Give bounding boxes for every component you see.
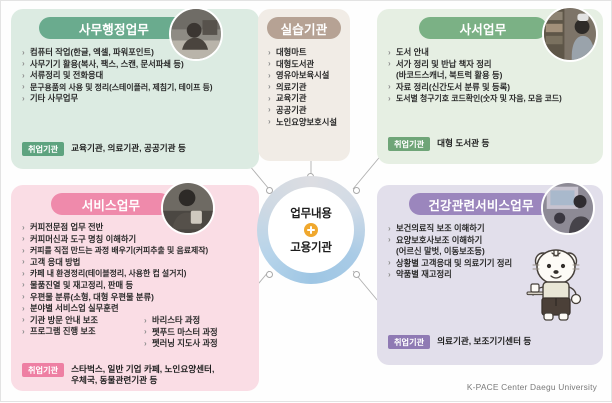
list-item: 도서별 청구기호 코드확인(숫자 및 자음, 모음 코드) (388, 93, 602, 105)
list-item: 기타 사무업무 (22, 93, 258, 105)
list-item: 영유아보육시설 (268, 70, 350, 82)
hub-bottom-label: 고용기관 (290, 239, 332, 255)
list-item: 카페 내 환경정리(테이블정리, 사용한 컵 설거지) (22, 268, 258, 280)
list-item: 펫러닝 지도사 과정 (144, 338, 256, 350)
list-item: 서류정리 및 전화응대 (22, 70, 258, 82)
hub-inner: 업무내용 고용기관 (268, 187, 354, 273)
health-training-photo (543, 183, 593, 233)
list-item: 펫푸드 마스터 과정 (144, 327, 256, 339)
barista-photo (163, 183, 213, 233)
employer-value: 대형 도서관 등 (437, 137, 489, 149)
card-service-employer: 취업기관 스타벅스, 일반 기업 카페, 노인요양센터, 우체국, 동물관련기관… (22, 363, 214, 386)
card-practicum-title: 실습기관 (267, 17, 341, 39)
office-worker-photo (171, 9, 221, 59)
tiger-mascot-with-tray (525, 241, 587, 323)
list-item: 대형도서관 (268, 59, 350, 71)
list-item: (바코드스캐너, 북트럭 활용 등) (388, 70, 602, 82)
list-item: 커피를 직접 만드는 과정 배우기(커피추출 및 음료제작) (22, 245, 258, 257)
card-office-photo (169, 7, 223, 61)
list-item: 대형마트 (268, 47, 350, 59)
card-library-photo (542, 6, 598, 62)
card-practicum-bullets: 대형마트 대형도서관 영유아보육시설 의료기관 교육기관 공공기관 노인요양보호… (268, 47, 350, 128)
center-hub: 업무내용 고용기관 (257, 176, 365, 284)
list-item: 의료기관 (268, 82, 350, 94)
employer-badge: 취업기관 (22, 142, 64, 156)
card-health-photo (541, 181, 595, 235)
employer-badge: 취업기관 (388, 137, 430, 151)
list-item: 물품진열 및 재고정리, 판매 등 (22, 280, 258, 292)
employer-value: 의료기관, 보조기기센터 등 (437, 335, 531, 347)
list-item: 고객 응대 방법 (22, 257, 258, 269)
plus-circle-icon (304, 223, 318, 237)
infographic-canvas: 사무행정업무 컴퓨터 작업(한글, 엑셀, 파워포인트) 사무기기 활용(복사,… (0, 0, 612, 402)
library-shelving-photo (544, 8, 596, 60)
employer-value-line2: 우체국, 동물관련기관 등 (71, 375, 214, 386)
list-item: 공공기관 (268, 105, 350, 117)
card-office-title: 사무행정업무 (39, 17, 189, 39)
list-item: 분야별 서비스업 실무훈련 (22, 303, 258, 315)
card-service-title: 서비스업무 (51, 193, 171, 215)
card-health-employer: 취업기관 의료기관, 보조기기센터 등 (388, 335, 531, 349)
card-service: 서비스업무 커피전문점 업무 전반 커피머신과 도구 명칭 이해하기 커피를 직… (11, 185, 259, 391)
employer-badge: 취업기관 (388, 335, 430, 349)
card-practicum: 실습기관 대형마트 대형도서관 영유아보육시설 의료기관 교육기관 공공기관 노… (258, 9, 350, 161)
card-service-course-list: 바리스타 과정 펫푸드 마스터 과정 펫러닝 지도사 과정 (144, 315, 256, 350)
employer-value: 교육기관, 의료기관, 공공기관 등 (71, 142, 186, 154)
list-item: 사무기기 활용(복사, 팩스, 스캔, 문서파쇄 등) (22, 59, 258, 71)
card-office-employer: 취업기관 교육기관, 의료기관, 공공기관 등 (22, 142, 186, 156)
list-item: 커피전문점 업무 전반 (22, 222, 258, 234)
list-item: 자료 정리(신간도서 분류 및 등록) (388, 82, 602, 94)
hub-top-label: 업무내용 (290, 205, 332, 221)
card-library-title: 사서업무 (419, 17, 547, 39)
list-item: 커피머신과 도구 명칭 이해하기 (22, 234, 258, 246)
list-item: 문구용품의 사용 및 정리(스테이플러, 제침기, 테이프 등) (22, 82, 258, 94)
employer-badge: 취업기관 (22, 363, 64, 377)
card-library-employer: 취업기관 대형 도서관 등 (388, 137, 489, 151)
list-item: 교육기관 (268, 93, 350, 105)
card-office-bullets: 컴퓨터 작업(한글, 엑셀, 파워포인트) 사무기기 활용(복사, 팩스, 스캔… (22, 47, 258, 105)
employer-value: 스타벅스, 일반 기업 카페, 노인요양센터, 우체국, 동물관련기관 등 (71, 363, 214, 386)
list-item: 노인요양보호시설 (268, 117, 350, 129)
list-item: 우편물 분류(소형, 대형 우편물 분류) (22, 292, 258, 304)
list-item: 바리스타 과정 (144, 315, 256, 327)
card-service-photo (161, 181, 215, 235)
employer-value-line1: 스타벅스, 일반 기업 카페, 노인요양센터, (71, 364, 214, 374)
list-item: 컴퓨터 작업(한글, 엑셀, 파워포인트) (22, 47, 258, 59)
card-health-title: 건강관련서비스업무 (409, 193, 553, 215)
footer-credit: K-PACE Center Daegu University (467, 382, 597, 392)
